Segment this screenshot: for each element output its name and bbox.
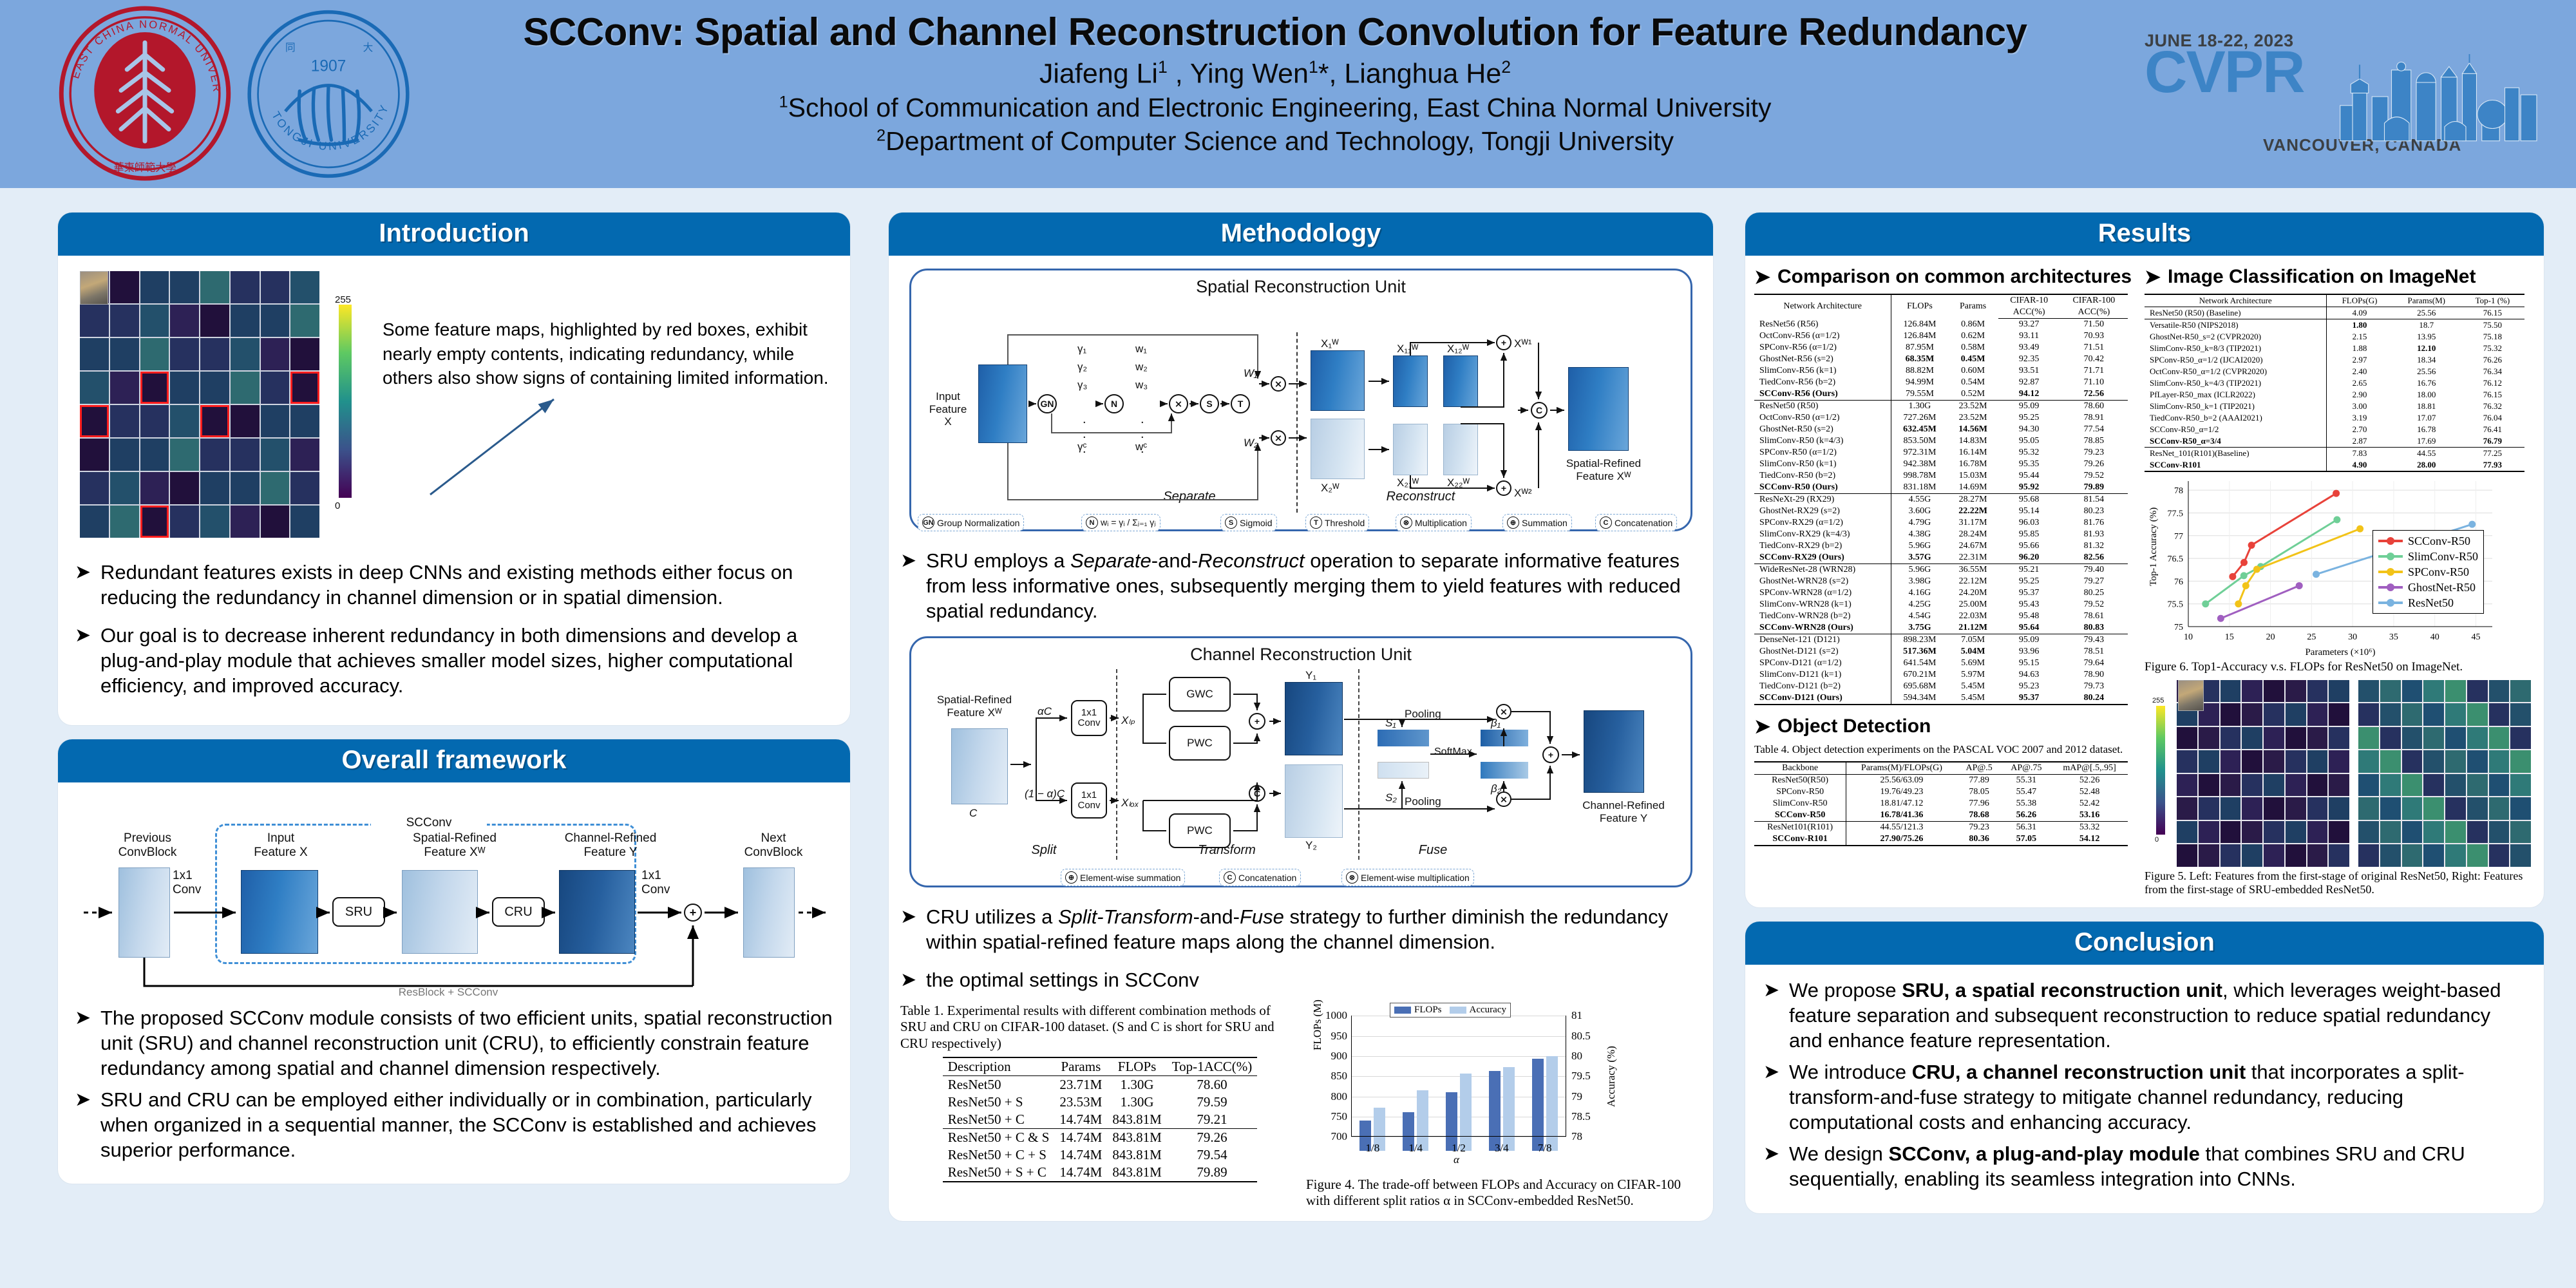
table1-col-header: Description (943, 1057, 1055, 1076)
bullet-arrow-icon: ➤ (1763, 978, 1789, 1053)
feature-map-tile (110, 506, 139, 538)
colorbar-max-label: 255 (335, 294, 351, 305)
feature-map-tile (2510, 844, 2531, 867)
table-row: ResNeXt-29 (RX29)4.55G28.27M95.6881.54 (1754, 494, 2128, 506)
table-row: GhostNet-RX29 (s=2)3.60G22.22M95.1480.23 (1754, 506, 2128, 517)
table-row: SlimConv-R50_k=8/3 (TIP2021)1.8812.1075.… (2145, 343, 2524, 354)
svg-text:同: 同 (285, 43, 296, 53)
table-row: DenseNet-121 (D121)898.23M7.05M95.0979.4… (1754, 634, 2128, 647)
feature-map-tile (2307, 774, 2328, 797)
feature-map-tile (261, 305, 290, 337)
feature-map-tile (2445, 797, 2466, 820)
figure4-left-tick: 700 (1323, 1130, 1347, 1143)
table1: DescriptionParamsFLOPsTop-1ACC(%)ResNet5… (943, 1057, 1258, 1182)
feature-map-tile (170, 338, 199, 370)
feature-map-tile (2307, 797, 2328, 820)
feature-map-tile (261, 271, 290, 303)
bullet-arrow-icon: ➤ (75, 560, 100, 610)
feature-map-tile (2242, 727, 2262, 750)
feature-map-tile (2242, 774, 2262, 797)
feature-map-tile (2445, 844, 2466, 867)
sru-connectors (911, 270, 1694, 533)
table-row: GhostNet-D121 (s=2)517.36M5.04M93.9678.5… (1754, 646, 2128, 658)
table-row: GhostNet-WRN28 (s=2)3.98G22.12M95.2579.2… (1754, 576, 2128, 587)
sigmoid-icon: S (1225, 516, 1237, 529)
figure4-right-axis-label: Accuracy (%) (1605, 1046, 1618, 1107)
feature-map-tile (2402, 750, 2423, 773)
feature-map-tile (2264, 680, 2284, 703)
feature-map-tile (2510, 797, 2531, 820)
feature-map-tile (2264, 844, 2284, 867)
svg-text:76.5: 76.5 (2168, 554, 2184, 564)
feature-map-tile (140, 472, 169, 504)
feature-map-tile (2467, 821, 2488, 844)
feature-map-tile (2242, 703, 2262, 726)
legend-concatenation: CConcatenation (1595, 514, 1677, 531)
feature-map-tile (140, 338, 169, 370)
table-row: GhostNet-R50_s=2 (CVPR2020)2.1513.9575.1… (2145, 331, 2524, 343)
feature-map-tile (170, 439, 199, 471)
overall-framework-heading: Overall framework (58, 739, 850, 782)
feature-map-tile (2489, 703, 2510, 726)
figure5-colorbar-min: 0 (2155, 836, 2159, 844)
summation-icon: ⊕ (1507, 516, 1519, 529)
table-row: TiedConv-WRN28 (b=2)4.54G22.03M95.4878.6… (1754, 611, 2128, 622)
cru-diagram: Channel Reconstruction Unit Spatial-Refi… (909, 636, 1692, 887)
introduction-figure-caption: Some feature maps, highlighted by red bo… (368, 271, 833, 390)
feature-map-tile (2177, 844, 2197, 867)
feature-map-tile (2329, 727, 2349, 750)
feature-map-tile (110, 338, 139, 370)
feature-map-tile (170, 472, 199, 504)
figure6-legend-item: ResNet50 (2378, 595, 2478, 611)
methodology-bullet-cru: ➤ CRU utilizes a Split-Transform-and-Fus… (900, 904, 1701, 954)
table1-col-header: Top-1ACC(%) (1167, 1057, 1258, 1076)
col-header: AP@.5 (1957, 762, 2002, 775)
table-row: SlimConv-D121 (k=1)670.21M5.97M94.6378.9… (1754, 669, 2128, 681)
col-header: Params(M)/FLOPs(G) (1846, 762, 1957, 775)
svg-text:75.5: 75.5 (2168, 600, 2184, 610)
feature-map-tile (2199, 750, 2219, 773)
feature-map-tile (110, 305, 139, 337)
feature-map-tile (2358, 797, 2379, 820)
figure4-caption: Figure 4. The trade-off between FLOPs an… (1306, 1177, 1692, 1209)
feature-map-tile (2380, 774, 2401, 797)
feature-map-tile (2489, 680, 2510, 703)
colorbar: 255 0 (330, 271, 368, 538)
architecture-comparison-table: Network ArchitectureFLOPsParamsCIFAR-10C… (1754, 294, 2128, 705)
col-header: Backbone (1754, 762, 1846, 775)
table-row: SCConv-R50_α=3/42.8717.6976.79 (2145, 435, 2524, 448)
feature-map-tile (2380, 821, 2401, 844)
table-row: SCConv-R50_α=1/22.7016.7876.41 (2145, 424, 2524, 435)
table-row: SPConv-D121 (α=1/2)641.54M5.69M95.1579.6… (1754, 658, 2128, 669)
table-row: ResNet101(R101)44.55/121.379.2356.3153.3… (1754, 822, 2128, 834)
feature-map-tile (2510, 821, 2531, 844)
feature-map-tile (2221, 797, 2241, 820)
feature-map-tile (2467, 844, 2488, 867)
col-header: Params(M) (2392, 294, 2461, 307)
feature-map-tile (2221, 727, 2241, 750)
feature-map-tile (2286, 797, 2306, 820)
feature-map-tile (2221, 680, 2241, 703)
table-row: ResNet50 + S + C14.74M843.81M79.89 (943, 1164, 1258, 1182)
feature-map-tile (231, 372, 260, 404)
feature-map-tile (2286, 821, 2306, 844)
feature-map-tile (2445, 750, 2466, 773)
svg-text:35: 35 (2389, 632, 2398, 642)
table-row: SPConv-R56 (α=1/2)87.95M0.58M93.4971.51 (1754, 342, 2128, 354)
feature-map-tile (2221, 750, 2241, 773)
conclusion-bullet: ➤ We design SCConv, a plug-and-play modu… (1763, 1141, 2526, 1191)
feature-map-tile (200, 271, 229, 303)
feature-map-tile (2402, 774, 2423, 797)
gn-icon: GN (922, 516, 934, 529)
col-header: CIFAR-100 (2060, 294, 2128, 307)
table-row: SPConv-R5019.76/49.2378.0555.4752.48 (1754, 786, 2128, 798)
feature-map-tile (2358, 844, 2379, 867)
figure5-caption: Figure 5. Left: Features from the first-… (2145, 869, 2531, 897)
svg-text:10: 10 (2184, 632, 2193, 642)
table-row: OctConv-R50_α=1/2 (CVPR2020)2.4025.5676.… (2145, 366, 2524, 377)
results-subheading-architectures: ➤ Comparison on common architectures (1754, 266, 2141, 289)
table-row: ResNet50 + C14.74M843.81M79.21 (943, 1111, 1258, 1129)
table-row: TiedConv-R50 (b=2)998.78M15.03M95.4479.5… (1754, 470, 2128, 482)
feature-map-tile (2329, 797, 2349, 820)
feature-map-tile (170, 506, 199, 538)
table-row: SPConv-R50_α=1/2 (IJCAI2020)2.9718.3476.… (2145, 354, 2524, 366)
column-left: Introduction 255 0 Some feature maps, hi… (58, 213, 850, 1198)
figure4-xtick: 3/4 (1489, 1142, 1515, 1155)
feature-map-tile (2445, 774, 2466, 797)
column-middle: Methodology Spatial Reconstruction Unit … (889, 213, 1713, 1235)
feature-map-tile (80, 506, 109, 538)
feature-map-tile (2286, 750, 2306, 773)
figure4-xlabel: α (1454, 1153, 1459, 1166)
feature-map-tile (140, 405, 169, 437)
bullet-arrow-icon: ➤ (1754, 266, 1777, 289)
figure4-right-tick: 81 (1571, 1009, 1582, 1022)
table-row: SCConv-R50 (Ours)831.18M14.69M95.9279.89 (1754, 482, 2128, 494)
table-row: SlimConv-R50_k=1 (TIP2021)3.0018.8176.32 (2145, 401, 2524, 412)
svg-text:45: 45 (2471, 632, 2480, 642)
table-row: SlimConv-RX29 (k=4/3)4.38G28.24M95.8581.… (1754, 529, 2128, 540)
svg-text:25: 25 (2307, 632, 2316, 642)
figure4-right-tick: 80 (1571, 1050, 1582, 1063)
conclusion-card: Conclusion ➤ We propose SRU, a spatial r… (1745, 922, 2544, 1213)
feature-map-tile (2221, 821, 2241, 844)
feature-map-tile (2242, 750, 2262, 773)
table-row: ResNet50(R50)25.56/63.0977.8955.3152.26 (1754, 775, 2128, 787)
table1-col-header: FLOPs (1107, 1057, 1166, 1076)
bullet-arrow-icon: ➤ (900, 967, 926, 992)
feature-map-tile (2423, 750, 2444, 773)
feature-map-tile (170, 271, 199, 303)
legend-weight-formula: Nwᵢ = γᵢ / Σⱼ₌₁ γⱼ (1081, 514, 1160, 531)
table-row: SCConv-D121 (Ours)594.34M5.45M95.3780.24 (1754, 692, 2128, 705)
results-card: Results ➤ Comparison on common architect… (1745, 213, 2544, 907)
table-row: SlimConv-WRN28 (k=1)4.25G25.00M95.4379.5… (1754, 599, 2128, 611)
colorbar-min-label: 0 (335, 500, 340, 511)
feature-map-tile (2307, 750, 2328, 773)
feature-map-tile (110, 271, 139, 303)
feature-map-tile (2221, 703, 2241, 726)
feature-map-tile (140, 372, 169, 404)
introduction-card: Introduction 255 0 Some feature maps, hi… (58, 213, 850, 725)
table-row: ResNet50 (R50)1.30G23.52M95.0978.60 (1754, 401, 2128, 413)
feature-map-tile (2307, 680, 2328, 703)
feature-map-tile (140, 439, 169, 471)
introduction-bullet: ➤ Our goal is to decrease inherent redun… (75, 623, 833, 698)
figure4-right-tick: 78 (1571, 1130, 1582, 1143)
col-header: Network Architecture (2145, 294, 2327, 307)
scconv-framework-diagram: SCConv Previous ConvBlock 1x1 Conv Input… (75, 800, 828, 994)
col-header: FLOPs (1891, 294, 1948, 319)
methodology-card: Methodology Spatial Reconstruction Unit … (889, 213, 1713, 1221)
table-row: SCConv-WRN28 (Ours)3.75G21.12M95.6480.83 (1754, 622, 2128, 634)
feature-map-tile (2510, 680, 2531, 703)
feature-map-tile (2402, 797, 2423, 820)
feature-map-tile (231, 338, 260, 370)
table-row: ResNet50 + C + S14.74M843.81M79.54 (943, 1146, 1258, 1164)
framework-bullet: ➤ SRU and CRU can be employed either ind… (75, 1087, 833, 1162)
table-row: SlimConv-R50_k=4/3 (TIP2021)2.6516.7676.… (2145, 377, 2524, 389)
table-row: TiedConv-D121 (b=2)695.68M5.45M95.2379.7… (1754, 681, 2128, 692)
column-right: Results ➤ Comparison on common architect… (1745, 213, 2544, 1227)
table-row: TiedConv-R50_b=2 (AAAI2021)3.1917.0776.0… (2145, 412, 2524, 424)
feature-map-tile (290, 472, 319, 504)
feature-map-tile (110, 405, 139, 437)
feature-map-grid (80, 271, 319, 538)
svg-text:75: 75 (2174, 623, 2183, 632)
imagenet-table: Network ArchitectureFLOPs(G)Params(M)Top… (2145, 294, 2524, 472)
feature-map-tile (200, 305, 229, 337)
col-header: CIFAR-10 (1998, 294, 2060, 307)
feature-map-tile (2329, 844, 2349, 867)
feature-map-tile (170, 405, 199, 437)
figure6-chart: 75 75.5 76 76.5 77 77.5 78 10 15 20 25 3… (2145, 472, 2531, 659)
table-row: SlimConv-R5018.81/47.1277.9655.3852.42 (1754, 798, 2128, 810)
table-row: ResNet56 (R56)126.84M0.86M93.2771.50 (1754, 319, 2128, 331)
table-row: PfLayer-R50_max (ICLR2022)2.9018.0076.15 (2145, 389, 2524, 401)
feature-map-tile (2423, 797, 2444, 820)
feature-map-tile (2380, 750, 2401, 773)
figure4-left-tick: 850 (1323, 1070, 1347, 1083)
table-row: ResNet50 (R50) (Baseline)4.0925.5676.15 (2145, 307, 2524, 319)
figure6-legend-item: SlimConv-R50 (2378, 549, 2478, 564)
table-row: SlimConv-R50 (k=4/3)853.50M14.83M95.0578… (1754, 435, 2128, 447)
feature-map-tile (290, 305, 319, 337)
table-row: SCConv-R10127.90/75.2680.3657.0554.12 (1754, 833, 2128, 846)
figure4-xtick: 7/8 (1532, 1142, 1558, 1155)
svg-text:76: 76 (2174, 577, 2183, 587)
feature-map-tile (2286, 844, 2306, 867)
feature-map-tile (2380, 727, 2401, 750)
feature-map-tile (2177, 750, 2197, 773)
feature-map-tile (2286, 680, 2306, 703)
bullet-arrow-icon: ➤ (75, 623, 100, 698)
figure4-right-tick: 80.5 (1571, 1030, 1591, 1043)
feature-map-tile (290, 338, 319, 370)
feature-map-tile (2286, 774, 2306, 797)
table-row: SCConv-R5016.78/41.3678.6856.2653.16 (1754, 810, 2128, 822)
col-header: mAP@[.5,.95] (2051, 762, 2128, 775)
feature-map-tile (2510, 774, 2531, 797)
feature-map-tile (2286, 703, 2306, 726)
figure4-legend: FLOPs Accuracy (1390, 1003, 1511, 1018)
legend-multiplication: ⊗Multiplication (1396, 514, 1472, 531)
feature-map-tile (170, 372, 199, 404)
figure6-caption: Figure 6. Top1-Accuracy v.s. FLOPs for R… (2145, 660, 2531, 675)
feature-map-tile (200, 506, 229, 538)
feature-map-tile (290, 506, 319, 538)
bullet-arrow-icon: ➤ (75, 1005, 100, 1081)
figure4-left-tick: 800 (1323, 1090, 1347, 1103)
feature-map-tile (2445, 727, 2466, 750)
methodology-heading: Methodology (889, 213, 1713, 256)
figure6-legend-item: SCConv-R50 (2378, 533, 2478, 549)
feature-map-tile (2489, 844, 2510, 867)
introduction-heading: Introduction (58, 213, 850, 256)
feature-map-tile (2402, 821, 2423, 844)
table-row: ResNet50 + S23.53M1.30G79.59 (943, 1094, 1258, 1111)
vancouver-skyline-icon (2331, 52, 2544, 142)
feature-map-tile (200, 472, 229, 504)
feature-map-tile (2510, 727, 2531, 750)
table1-caption: Table 1. Experimental results with diffe… (900, 1003, 1300, 1052)
feature-map-tile (2358, 727, 2379, 750)
feature-map-tile (2264, 750, 2284, 773)
figure5-colorbar (2156, 706, 2165, 835)
feature-map-tile (80, 472, 109, 504)
feature-map-tile (110, 472, 139, 504)
feature-map-tile (231, 472, 260, 504)
svg-text:20: 20 (2266, 632, 2275, 642)
feature-map-tile (2423, 680, 2444, 703)
table-row: SPConv-WRN28 (α=1/2)4.16G24.20M95.3780.2… (1754, 587, 2128, 599)
feature-map-tile (2177, 774, 2197, 797)
table-row: SCConv-RX29 (Ours)3.57G22.31M96.2082.56 (1754, 552, 2128, 564)
bullet-arrow-icon: ➤ (900, 904, 926, 954)
feature-map-tile (2423, 703, 2444, 726)
table-row: OctConv-R56 (α=1/2)126.84M0.62M93.1170.9… (1754, 330, 2128, 342)
feature-map-tile (80, 372, 109, 404)
figure4-left-tick: 950 (1323, 1030, 1347, 1043)
sru-diagram: Spatial Reconstruction Unit Input Featur… (909, 269, 1692, 531)
affiliation-1: 1School of Communication and Electronic … (451, 91, 2099, 124)
legend-sigmoid: SSigmoid (1220, 514, 1277, 531)
feature-map-tile (2358, 680, 2379, 703)
threshold-icon: T (1310, 516, 1322, 529)
feature-map-tile (2380, 797, 2401, 820)
feature-map-tile (2467, 727, 2488, 750)
feature-map-tile (2467, 797, 2488, 820)
feature-map-tile (2510, 750, 2531, 773)
feature-map-tile (2489, 774, 2510, 797)
feature-map-tile (2380, 680, 2401, 703)
framework-bullet: ➤ The proposed SCConv module consists of… (75, 1005, 833, 1081)
table-row: ResNet_101(R101)(Baseline)7.8344.5577.25 (2145, 448, 2524, 460)
results-heading: Results (1745, 213, 2544, 256)
col-header: Top-1 (%) (2461, 294, 2524, 307)
bullet-arrow-icon: ➤ (2145, 266, 2168, 289)
figure4-right-tick: 79 (1571, 1090, 1582, 1103)
figure4-xtick: 1/8 (1359, 1142, 1385, 1155)
legend-threshold: TThreshold (1305, 514, 1369, 531)
figure4-right-tick: 79.5 (1571, 1070, 1591, 1083)
feature-map-tile (2358, 821, 2379, 844)
table-row: GhostNet-R56 (s=2)68.35M0.45M92.3570.42 (1754, 354, 2128, 365)
feature-map-tile (2445, 821, 2466, 844)
table-row: ResNet50 + C & S14.74M843.81M79.26 (943, 1128, 1258, 1146)
feature-map-tile (2423, 727, 2444, 750)
feature-map-tile (2467, 703, 2488, 726)
svg-text:77.5: 77.5 (2168, 509, 2184, 518)
legend-elementwise-summation: ⊕Element-wise summation (1061, 869, 1185, 886)
feature-map-tile (2307, 727, 2328, 750)
svg-text:40: 40 (2430, 632, 2439, 642)
table-row: OctConv-R50 (α=1/2)727.26M23.52M95.2578.… (1754, 412, 2128, 424)
n-icon: N (1086, 516, 1098, 529)
feature-map-tile (231, 271, 260, 303)
conclusion-heading: Conclusion (1745, 922, 2544, 965)
table1-col-header: Params (1054, 1057, 1107, 1076)
col-header: AP@.75 (2002, 762, 2052, 775)
feature-map-tile (2307, 703, 2328, 726)
feature-map-tile (2264, 821, 2284, 844)
feature-map-tile (80, 405, 109, 437)
feature-map-tile (2242, 797, 2262, 820)
feature-map-tile (261, 506, 290, 538)
feature-map-tile (80, 439, 109, 471)
feature-map-tile (2199, 821, 2219, 844)
feature-map-tile (110, 439, 139, 471)
bullet-arrow-icon: ➤ (1754, 715, 1777, 738)
introduction-figure: 255 0 Some feature maps, highlighted by … (75, 267, 833, 543)
feature-map-tile (2242, 821, 2262, 844)
figure6-legend-item: GhostNet-R50 (2378, 580, 2478, 595)
feature-map-tile (80, 338, 109, 370)
figure6-legend-item: SPConv-R50 (2378, 564, 2478, 580)
cru-connectors (911, 638, 1694, 889)
feature-map-tile (2423, 774, 2444, 797)
table-row: WideResNet-28 (WRN28)5.96G36.55M95.2179.… (1754, 564, 2128, 576)
multiplication-icon: ⊗ (1346, 871, 1358, 884)
feature-map-tile (2445, 703, 2466, 726)
figure6-legend: SCConv-R50SlimConv-R50SPConv-R50GhostNet… (2372, 530, 2484, 614)
feature-map-tile (2402, 703, 2423, 726)
bullet-arrow-icon: ➤ (1763, 1059, 1789, 1135)
feature-map-tile (290, 271, 319, 303)
feature-map-tile (200, 405, 229, 437)
framework-connectors (75, 800, 828, 994)
feature-map-tile (2402, 844, 2423, 867)
feature-map-tile (2358, 750, 2379, 773)
feature-map-tile (261, 439, 290, 471)
feature-map-tile (140, 271, 169, 303)
svg-text:Parameters (×10⁶): Parameters (×10⁶) (2305, 647, 2375, 658)
table4-caption: Table 4. Object detection experiments on… (1754, 743, 2141, 756)
feature-map-tile (261, 338, 290, 370)
feature-map-tile (2199, 844, 2219, 867)
overall-framework-card: Overall framework SCConv Previous ConvBl… (58, 739, 850, 1183)
feature-map-tile (110, 372, 139, 404)
legend-summation: ⊕Summation (1502, 514, 1572, 531)
feature-map-tile (2489, 727, 2510, 750)
feature-map-tile (261, 372, 290, 404)
feature-map-tile (2510, 703, 2531, 726)
svg-text:15: 15 (2225, 632, 2234, 642)
